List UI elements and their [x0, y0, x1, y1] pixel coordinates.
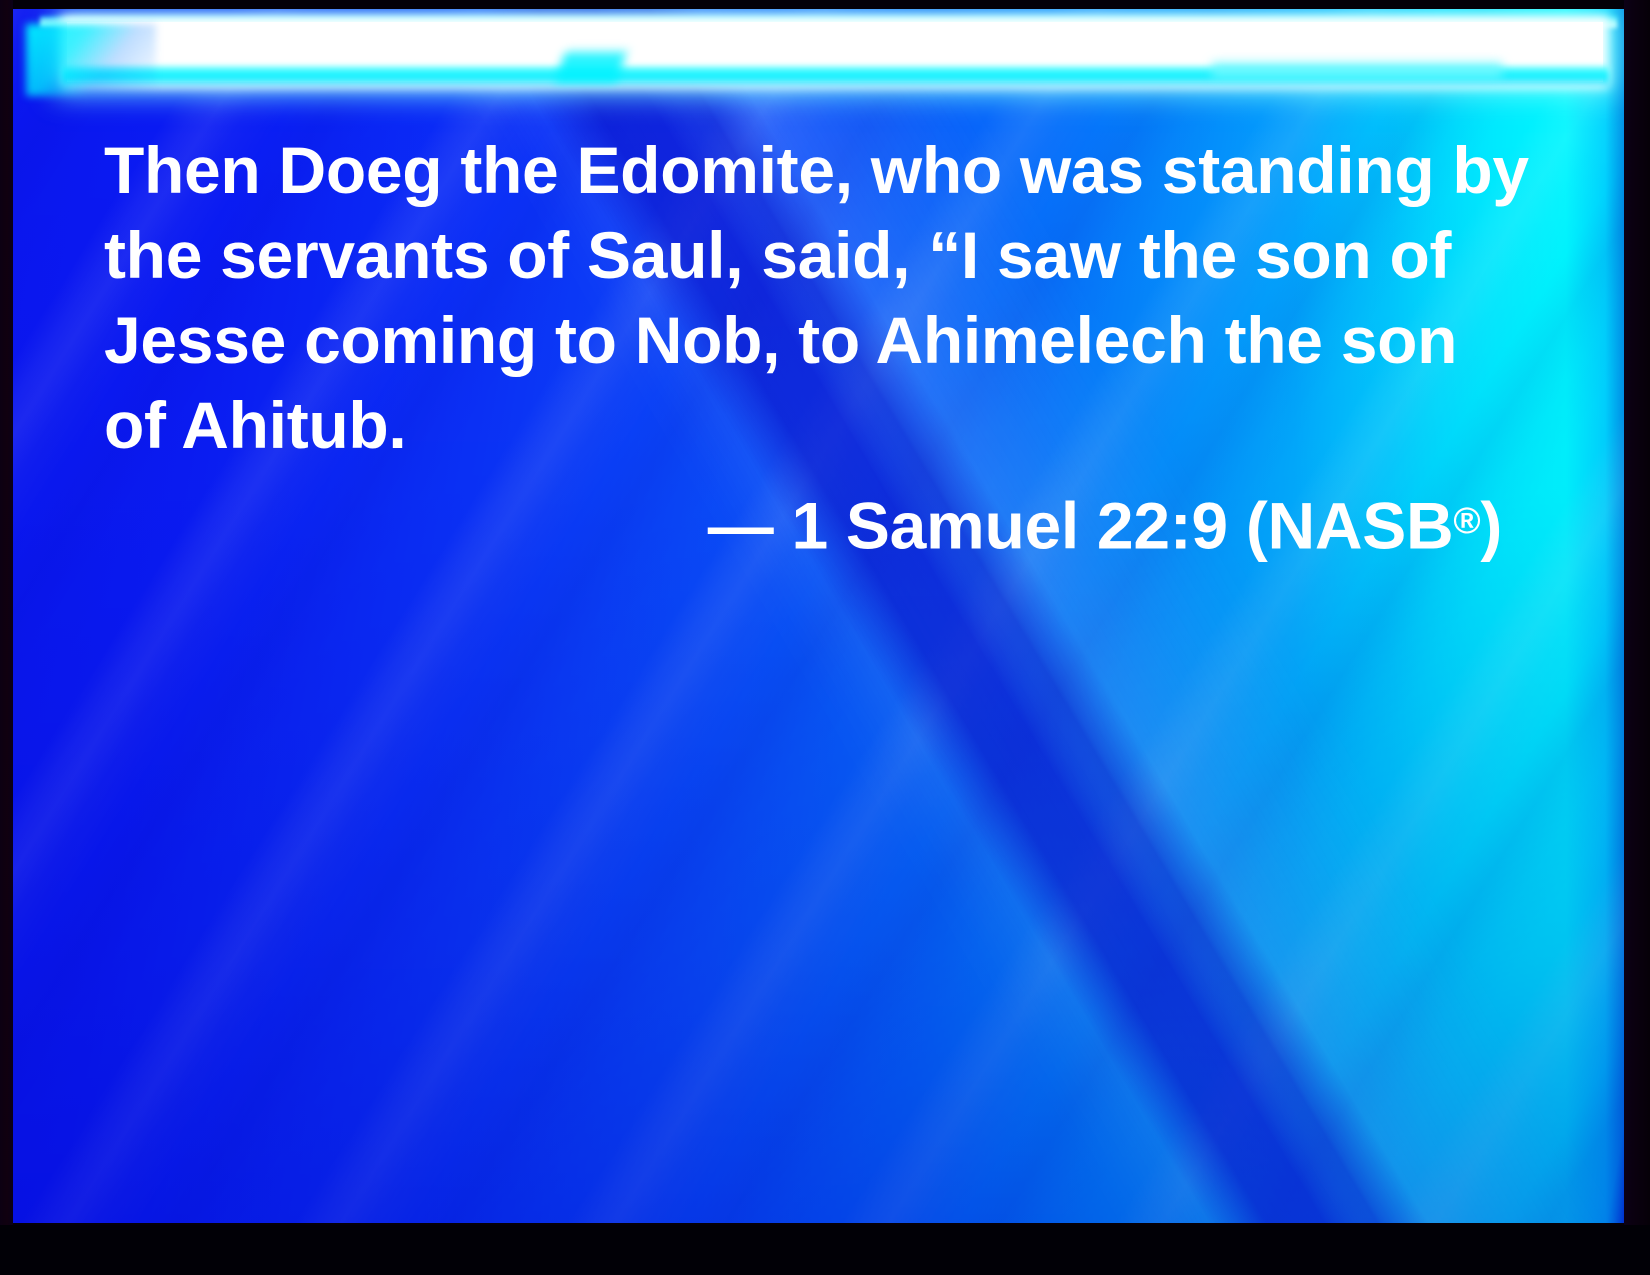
verse-reference-prefix: — 1 Samuel 22:9 (NASB [708, 489, 1454, 563]
frame-right-edge [1624, 0, 1650, 1275]
frame-bottom-edge [0, 1225, 1650, 1275]
verse-reference: — 1 Samuel 22:9 (NASB®) [104, 468, 1534, 569]
scripture-slide: Then Doeg the Edomite, who was standing … [0, 0, 1650, 1275]
slide-stage: Then Doeg the Edomite, who was standing … [12, 8, 1625, 1223]
header-light-band [12, 8, 1625, 96]
header-band-corner-wedge-icon [26, 24, 156, 96]
header-band-cyan-accent-left [556, 52, 627, 82]
verse-text: Then Doeg the Edomite, who was standing … [104, 128, 1534, 468]
verse-reference-suffix: ) [1480, 489, 1502, 563]
verse-block: Then Doeg the Edomite, who was standing … [104, 128, 1534, 569]
registered-trademark-icon: ® [1453, 500, 1480, 541]
frame-top-edge [0, 0, 1650, 9]
frame-left-edge [0, 0, 13, 1275]
header-band-cyan-accent-right [1212, 62, 1502, 79]
